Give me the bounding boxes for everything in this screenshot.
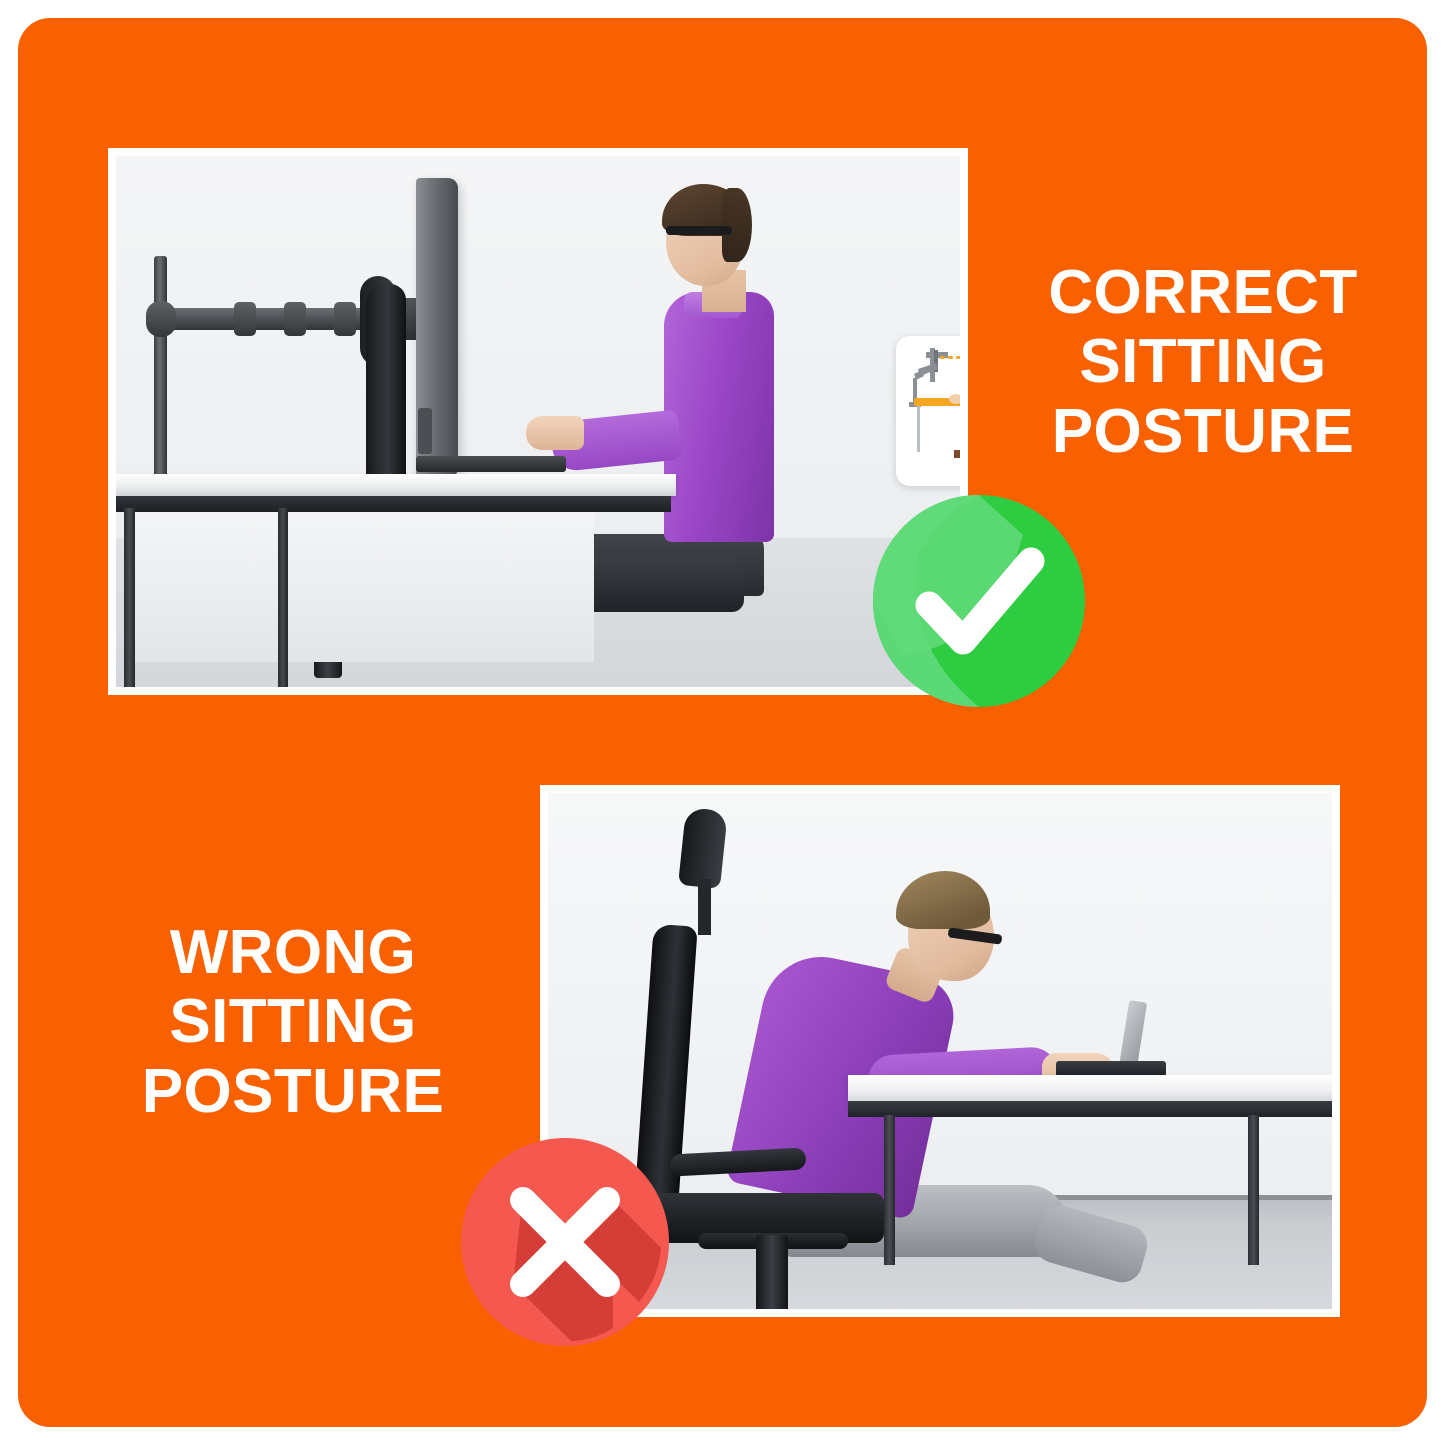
person-torso bbox=[664, 292, 774, 542]
wrong-headline-line-2: SITTING bbox=[98, 987, 488, 1056]
ergonomic-correct-illustration bbox=[896, 336, 960, 486]
desk-leg bbox=[278, 508, 288, 687]
desk-frame bbox=[848, 1101, 1332, 1117]
person-hair-back bbox=[722, 188, 752, 262]
wrong-headline-line-1: WRONG bbox=[98, 918, 488, 987]
correct-headline-line-3: POSTURE bbox=[1008, 397, 1398, 466]
person-shin bbox=[1030, 1201, 1152, 1287]
monitor-arm-joint bbox=[234, 302, 256, 336]
wrong-headline-line-3: POSTURE bbox=[98, 1057, 488, 1126]
desk-frame bbox=[116, 496, 671, 512]
desk-leg bbox=[1248, 1115, 1259, 1265]
desk-leg bbox=[884, 1115, 895, 1265]
correct-headline-line-1: CORRECT bbox=[1008, 258, 1398, 327]
check-badge bbox=[873, 495, 1085, 707]
correct-headline-line-2: SITTING bbox=[1008, 327, 1398, 396]
desk-top bbox=[116, 474, 676, 496]
correct-posture-photo-image bbox=[116, 156, 960, 687]
cross-badge bbox=[461, 1138, 669, 1346]
monitor-rear-detail bbox=[418, 408, 432, 454]
correct-headline: CORRECT SITTING POSTURE bbox=[1008, 258, 1398, 466]
chair-gas-lift bbox=[756, 1235, 788, 1309]
monitor-arm-joint bbox=[146, 301, 176, 337]
poster-canvas: CORRECT SITTING POSTURE bbox=[18, 18, 1427, 1427]
eyeglasses-icon bbox=[666, 226, 732, 235]
desk-leg bbox=[124, 508, 135, 687]
monitor-arm-joint bbox=[284, 302, 306, 336]
desk-top bbox=[848, 1075, 1332, 1101]
keyboard bbox=[416, 456, 566, 472]
person-hair bbox=[896, 871, 990, 929]
monitor-arm-joint bbox=[334, 302, 356, 336]
correct-posture-photo bbox=[108, 148, 968, 695]
desk-modesty-panel bbox=[134, 512, 594, 662]
person-hand bbox=[526, 416, 584, 450]
wrong-headline: WRONG SITTING POSTURE bbox=[98, 918, 488, 1126]
